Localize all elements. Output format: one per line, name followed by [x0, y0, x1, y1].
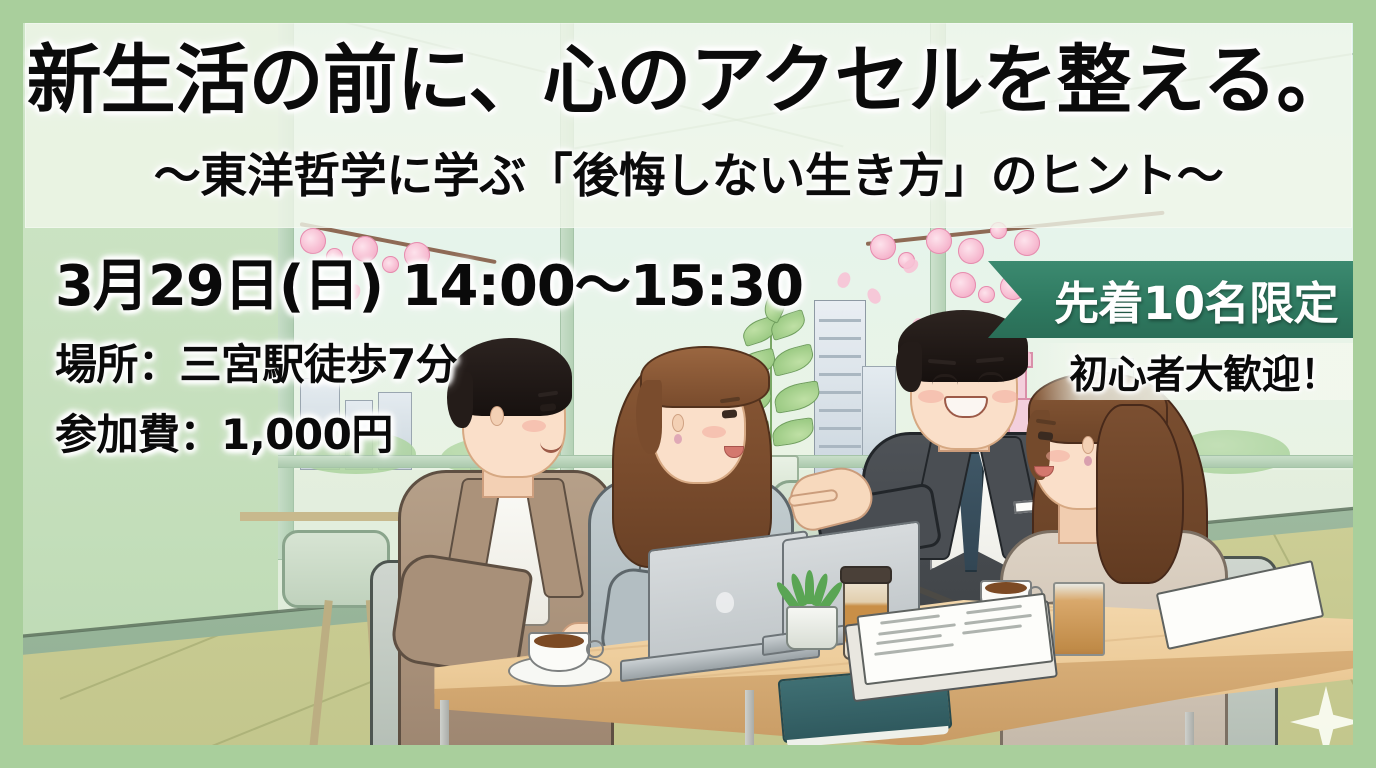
capacity-ribbon-label: 先着10名限定 [1026, 267, 1338, 332]
table-leg [1185, 712, 1194, 768]
title-panel: 新生活の前に、心のアクセルを整える。 〜東洋哲学に学ぶ「後悔しない生き方」のヒン… [25, 23, 1352, 228]
page-subtitle: 〜東洋哲学に学ぶ「後悔しない生き方」のヒント〜 [25, 153, 1352, 200]
event-date-time: 3月29日(日) 14:00〜15:30 [55, 258, 803, 317]
iced-coffee-glass [1053, 582, 1105, 656]
event-poster: 新生活の前に、心のアクセルを整える。 〜東洋哲学に学ぶ「後悔しない生き方」のヒン… [0, 0, 1376, 768]
beginners-welcome-label: 初心者大歓迎！ [1069, 344, 1339, 400]
event-details: 3月29日(日) 14:00〜15:30 場所：三宮駅徒歩7分 参加費：1,00… [55, 258, 803, 457]
event-location: 場所：三宮駅徒歩7分 [55, 343, 803, 387]
page-title: 新生活の前に、心のアクセルを整える。 [25, 43, 1352, 118]
skyscraper [814, 300, 866, 480]
capacity-ribbon-badge: 先着10名限定 [988, 261, 1376, 338]
window-frame-top [255, 0, 1376, 10]
table-leg [440, 700, 449, 768]
beginners-welcome-banner: 初心者大歓迎！ [1032, 343, 1376, 400]
event-fee: 参加費：1,000円 [55, 413, 803, 457]
table-leg [745, 690, 754, 768]
